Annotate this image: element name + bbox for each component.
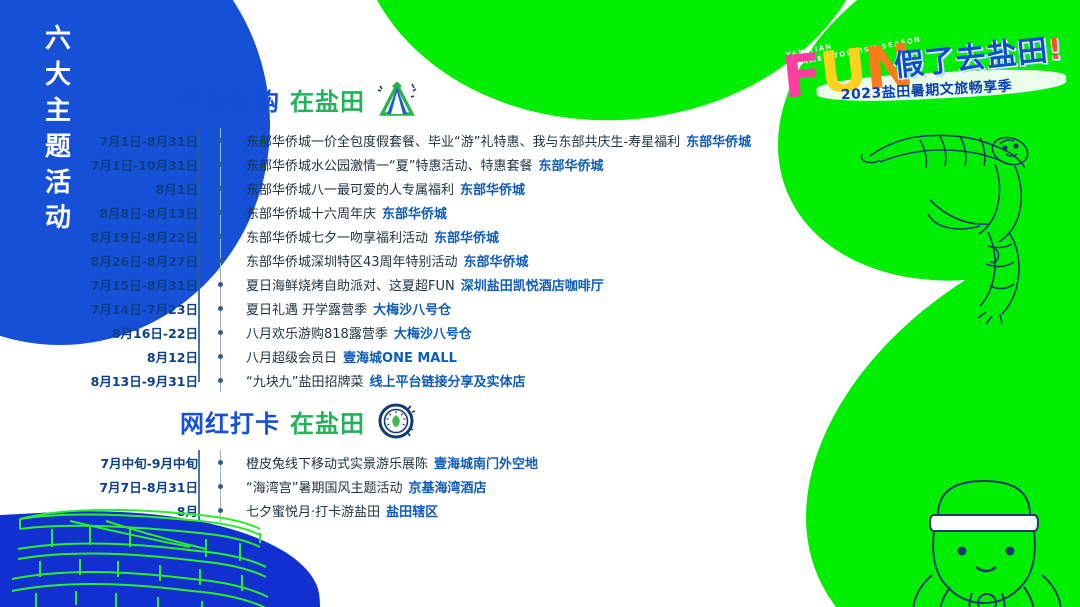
activity-row: 8月12日八月超级会员日壹海城ONE MALL: [76, 344, 751, 368]
activity-date: 7月1日-10月31日: [76, 155, 208, 174]
activity-row: 7月中旬-9月中旬橙皮兔线下移动式实景游乐展陈壹海城南门外空地: [76, 450, 538, 474]
timeline-marker: [208, 344, 234, 368]
activity-venue: 壹海城南门外空地: [434, 457, 538, 472]
section-title-blue-1: 吃住游购: [180, 82, 280, 117]
logo-exclamation: !: [1046, 31, 1064, 67]
activity-venue: 东部华侨城: [464, 255, 529, 270]
timeline-marker: [208, 320, 234, 344]
activity-description: 东部华侨城八一最可爱的人专属福利东部华侨城: [234, 179, 525, 198]
compass-icon: [375, 400, 419, 442]
activity-row: 7月1日-10月31日东部华侨城水公园激情一“夏”特惠活动、特惠套餐东部华侨城: [76, 152, 751, 176]
activity-date: 8月12日: [76, 347, 208, 366]
activity-description: 东部华侨城十六周年庆东部华侨城: [234, 203, 447, 222]
activity-row: 8月19日-8月22日东部华侨城七夕一吻享福利活动东部华侨城: [76, 224, 751, 248]
section-header-2: 网红打卡 在盐田: [180, 400, 419, 442]
activity-row: 8月13日-9月31日“九块九”盐田招牌菜线上平台链接分享及实体店: [76, 368, 751, 392]
activity-row: 8月16日-22日八月欢乐游购818露营季大梅沙八号仓: [76, 320, 751, 344]
activity-list-1: 7月1日-8月31日东部华侨城一价全包度假套餐、毕业“游”礼特惠、我与东部共庆生…: [76, 128, 751, 392]
octopus-mascot-illustration: [898, 463, 1078, 607]
activity-row: 8月26日-8月27日东部华侨城深圳特区43周年特别活动东部华侨城: [76, 248, 751, 272]
timeline-marker: [208, 128, 234, 152]
activity-date: 8月19日-8月22日: [76, 227, 208, 246]
activity-date: 7月15日-8月31日: [76, 275, 208, 294]
timeline-marker: [208, 200, 234, 224]
activity-venue: 盐田辖区: [386, 505, 438, 520]
activity-venue: 深圳盐田凯悦酒店咖啡厅: [461, 279, 604, 294]
activity-venue: 壹海城ONE MALL: [343, 351, 457, 366]
activity-description: 东部华侨城七夕一吻享福利活动东部华侨城: [234, 227, 499, 246]
activity-venue: 大梅沙八号仓: [394, 327, 472, 342]
side-title-char: 六: [28, 22, 90, 58]
activity-description: 橙皮兔线下移动式实景游乐展陈壹海城南门外空地: [234, 453, 538, 472]
activity-date: 7月14日-7月23日: [76, 299, 208, 318]
activity-row: 8月1日东部华侨城八一最可爱的人专属福利东部华侨城: [76, 176, 751, 200]
activity-date: 8月26日-8月27日: [76, 251, 208, 270]
activity-venue: 线上平台链接分享及实体店: [369, 375, 525, 390]
surfer-illustration: [860, 96, 1080, 326]
activity-venue: 东部华侨城: [434, 231, 499, 246]
activity-venue: 东部华侨城: [460, 183, 525, 198]
activity-venue: 大梅沙八号仓: [373, 303, 451, 318]
timeline-marker: [208, 176, 234, 200]
activity-date: 8月8日-8月13日: [76, 203, 208, 222]
timeline-marker: [208, 248, 234, 272]
timeline-marker: [208, 272, 234, 296]
section-title-green-2: 在盐田: [290, 404, 365, 439]
activity-venue: 东部华侨城: [382, 207, 447, 222]
activity-description: 夏日海鲜烧烤自助派对、这夏超FUN深圳盐田凯悦酒店咖啡厅: [234, 275, 604, 294]
activity-date: 7月中旬-9月中旬: [76, 453, 208, 472]
activity-venue: 东部华侨城: [538, 159, 603, 174]
activity-date: 8月1日: [76, 179, 208, 198]
timeline-marker: [208, 224, 234, 248]
activity-description: 八月超级会员日壹海城ONE MALL: [234, 347, 457, 366]
side-title-char: 大: [28, 58, 90, 94]
activity-venue: 东部华侨城: [686, 135, 751, 150]
section-header-1: 吃住游购 在盐田: [180, 78, 419, 120]
activity-date: 7月1日-8月31日: [76, 131, 208, 150]
timeline-marker: [208, 368, 234, 392]
architecture-illustration: [10, 491, 280, 607]
poster-canvas: 六 大 主 题 活 动 YAN TIAN SUMMER TOURISM SEAS…: [0, 0, 1080, 607]
activity-venue: 京基海湾酒店: [408, 481, 486, 496]
activity-description: 东部华侨城水公园激情一“夏”特惠活动、特惠套餐东部华侨城: [234, 155, 604, 174]
side-title-char: 主: [28, 94, 90, 130]
tent-icon: [375, 78, 419, 120]
activity-row: 7月1日-8月31日东部华侨城一价全包度假套餐、毕业“游”礼特惠、我与东部共庆生…: [76, 128, 751, 152]
section-title-green-1: 在盐田: [290, 82, 365, 117]
activity-description: “九块九”盐田招牌菜线上平台链接分享及实体店: [234, 371, 526, 390]
timeline-marker: [208, 152, 234, 176]
activity-row: 7月15日-8月31日夏日海鲜烧烤自助派对、这夏超FUN深圳盐田凯悦酒店咖啡厅: [76, 272, 751, 296]
activity-description: 夏日礼遇 开学露营季大梅沙八号仓: [234, 299, 451, 318]
activity-row: 8月8日-8月13日东部华侨城十六周年庆东部华侨城: [76, 200, 751, 224]
timeline-marker: [208, 450, 234, 474]
timeline-marker: [208, 296, 234, 320]
activity-date: 8月13日-9月31日: [76, 371, 208, 390]
activity-description: 东部华侨城深圳特区43周年特别活动东部华侨城: [234, 251, 529, 270]
section-title-blue-2: 网红打卡: [180, 404, 280, 439]
activity-date: 8月16日-22日: [76, 323, 208, 342]
activity-row: 7月14日-7月23日夏日礼遇 开学露营季大梅沙八号仓: [76, 296, 751, 320]
activity-description: 八月欢乐游购818露营季大梅沙八号仓: [234, 323, 472, 342]
activity-description: 东部华侨城一价全包度假套餐、毕业“游”礼特惠、我与东部共庆生-寿星福利东部华侨城: [234, 131, 751, 150]
